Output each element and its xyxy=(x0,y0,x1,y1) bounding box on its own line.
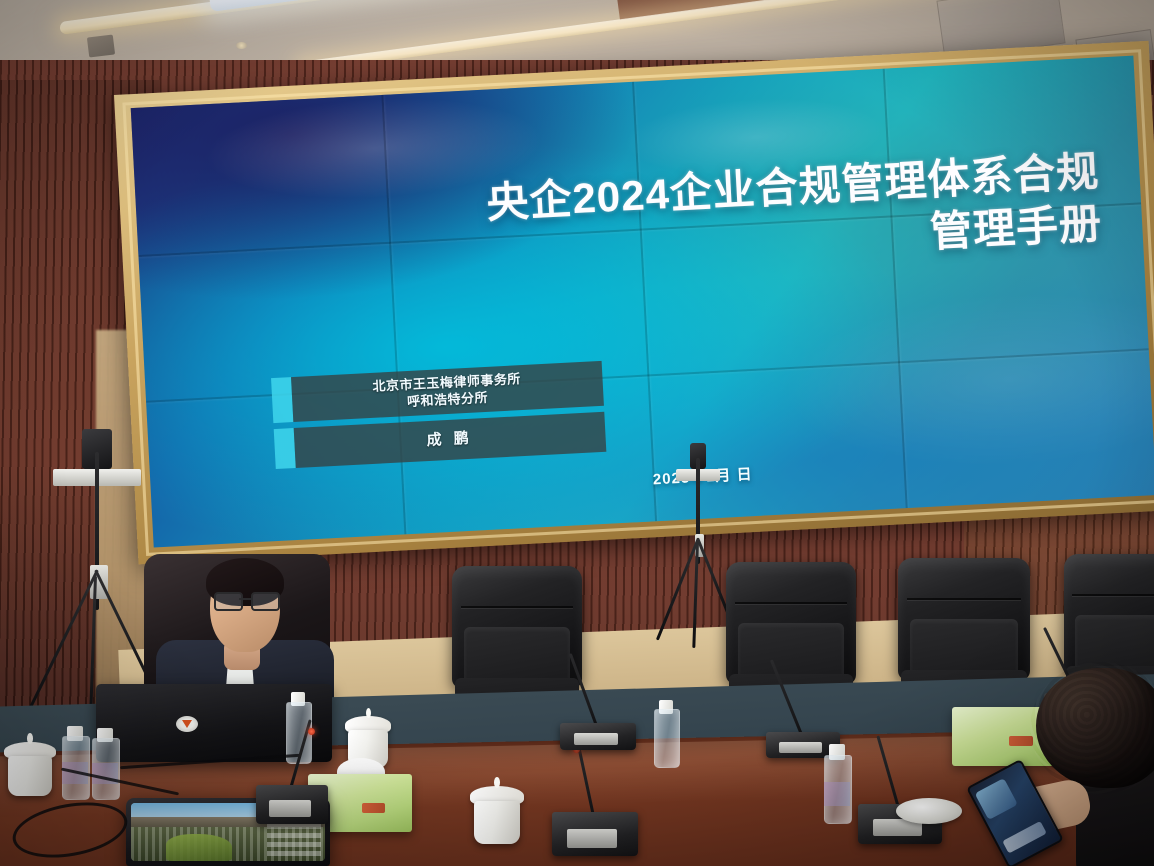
tripod-leg xyxy=(692,542,699,648)
accent-tab xyxy=(273,429,295,469)
tissue-brand-logo xyxy=(362,803,385,813)
ceiling-downlight xyxy=(236,42,247,49)
wallpaper-foliage xyxy=(166,834,232,861)
chair-seam xyxy=(1072,594,1154,596)
chair-seam xyxy=(907,598,1021,600)
mic-control-panel[interactable] xyxy=(779,742,822,753)
bottle-body xyxy=(654,709,680,768)
water-bottle xyxy=(62,726,88,800)
slide-credits: 北京市王玉梅律师事务所 呼和浩特分所 成 鹏 xyxy=(271,361,607,475)
bottle-label xyxy=(824,782,850,806)
chair-seam xyxy=(461,606,573,608)
video-wall-display[interactable]: 央企2024企业合规管理体系合规 管理手册 北京市王玉梅律师事务所 呼和浩特分所… xyxy=(131,56,1154,548)
mic-control-panel[interactable] xyxy=(574,733,618,745)
mic-control-panel[interactable] xyxy=(567,829,617,848)
glasses-lens xyxy=(214,592,243,611)
conference-microphone[interactable] xyxy=(552,752,638,856)
presenter-name: 成 鹏 xyxy=(293,412,606,467)
slide-title: 央企2024企业合规管理体系合规 管理手册 xyxy=(216,146,1104,296)
conference-microphone[interactable] xyxy=(256,732,328,824)
glasses-bridge xyxy=(239,598,251,600)
gold-screen-frame: 央企2024企业合规管理体系合规 管理手册 北京市王玉梅律师事务所 呼和浩特分所… xyxy=(114,41,1154,565)
eyeglasses-icon xyxy=(214,592,276,607)
tissue-brand-logo xyxy=(1009,736,1033,746)
glasses-lens xyxy=(251,592,280,611)
lidded-tea-cup xyxy=(474,786,520,844)
conference-room-photo: 央企2024企业合规管理体系合规 管理手册 北京市王玉梅律师事务所 呼和浩特分所… xyxy=(0,0,1154,866)
water-bottle xyxy=(824,744,850,824)
logo-badge-icon xyxy=(176,716,198,732)
cup-body xyxy=(8,756,52,796)
lidded-tea-cup xyxy=(8,742,52,796)
mic-control-panel[interactable] xyxy=(269,800,311,817)
phone-content-highlight xyxy=(975,778,1018,820)
water-bottle xyxy=(92,728,118,800)
cup-body xyxy=(474,801,520,844)
mic-tip-led xyxy=(308,728,315,735)
saucer-plate xyxy=(896,798,962,824)
water-bottle xyxy=(654,700,678,768)
phone-content-band xyxy=(1002,821,1046,854)
conference-microphone[interactable] xyxy=(858,748,942,844)
chair-seam xyxy=(735,602,847,604)
ceiling-speaker xyxy=(87,34,115,57)
accent-tab xyxy=(271,377,293,423)
camera-tripod xyxy=(670,458,726,648)
person-curly-hair xyxy=(1036,668,1154,788)
conference-microphone[interactable] xyxy=(560,686,636,750)
organization-box: 北京市王玉梅律师事务所 呼和浩特分所 xyxy=(291,361,604,422)
cup-knob xyxy=(366,708,371,718)
